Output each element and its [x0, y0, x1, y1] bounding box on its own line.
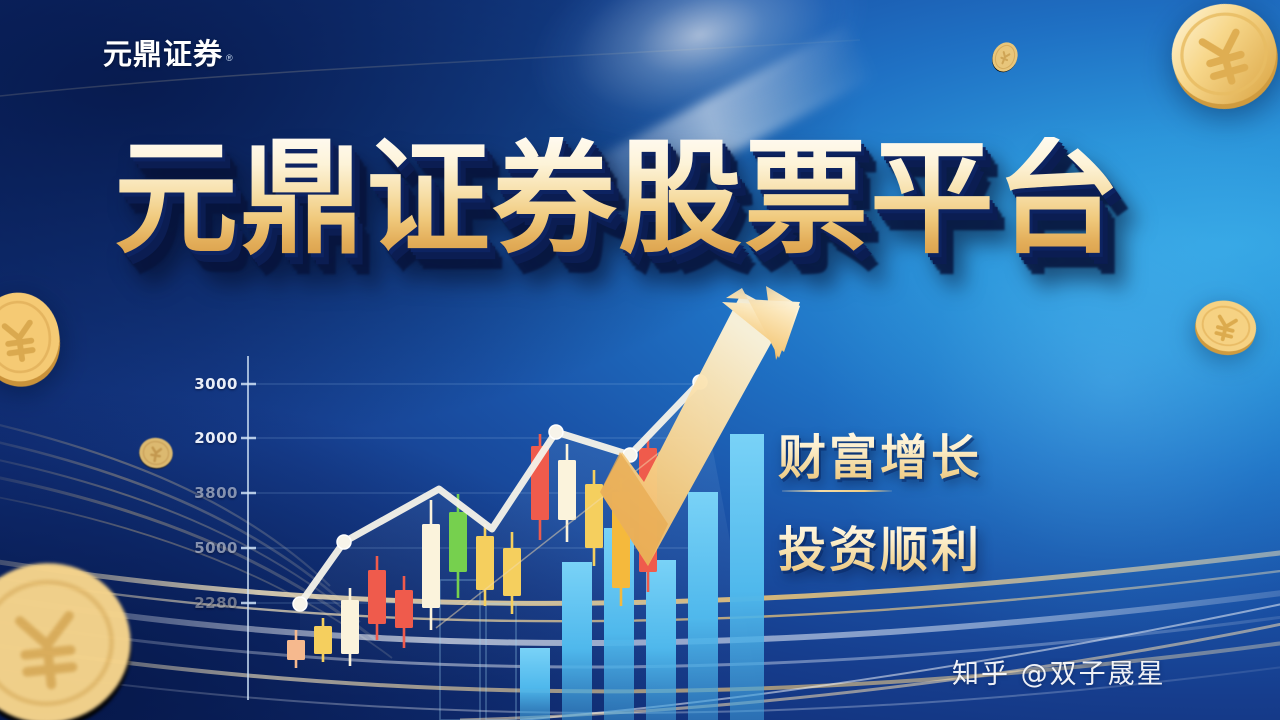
axis-tick-label: 2000 — [178, 429, 238, 447]
brand-logo[interactable]: 元鼎证券 ® — [103, 40, 233, 69]
registered-mark-icon: ® — [226, 54, 233, 63]
slogan-divider — [782, 490, 892, 492]
stock-chart — [0, 0, 1280, 720]
axis-tick-label: 2280 — [178, 594, 238, 612]
slogan-wealth-growth: 财富增长 — [778, 418, 982, 488]
axis-tick-label: 3800 — [178, 484, 238, 502]
page-title: 元鼎证券股票平台 — [114, 124, 1194, 274]
poster-canvas: 3000 2000 3800 5000 2280 元鼎证券 ® 元鼎证券股票平台… — [0, 0, 1280, 720]
axis-tick-label: 5000 — [178, 539, 238, 557]
brand-logo-text: 元鼎证券 — [103, 40, 223, 69]
page-title-text: 元鼎证券股票平台 — [114, 137, 1122, 261]
slogan-investment-success: 投资顺利 — [778, 510, 982, 580]
axis-tick-label: 3000 — [178, 375, 238, 393]
watermark: 知乎 @双子晟星 — [952, 652, 1166, 691]
